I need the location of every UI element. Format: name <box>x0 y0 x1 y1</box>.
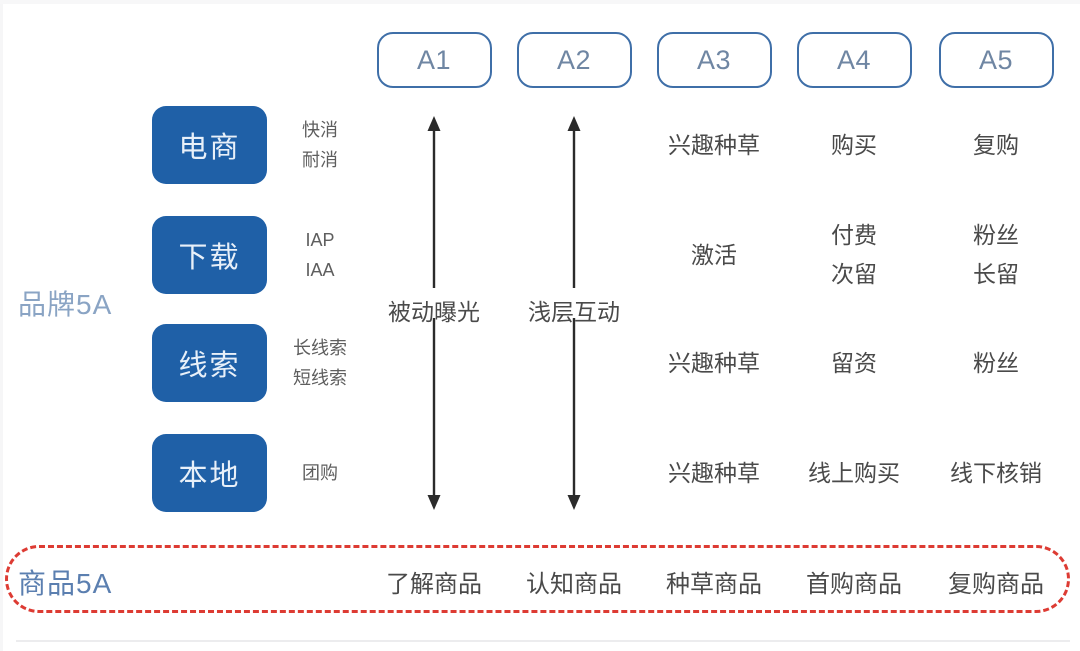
axis-caption-2: 浅层互动 <box>499 293 649 327</box>
category-subtype-line: 快消 <box>280 115 360 145</box>
category-subtypes-4: 团购 <box>280 458 360 488</box>
matrix-cell-r1-a4: 购买 <box>779 126 929 165</box>
a2-up-arrow <box>561 116 587 288</box>
category-subtype-line: 短线索 <box>280 363 360 393</box>
brand-5a-label: 品牌5A <box>18 283 112 323</box>
matrix-cell-line: 兴趣种草 <box>639 126 789 165</box>
category-subtypes-3: 长线索短线索 <box>280 333 360 393</box>
matrix-cell-line: 粉丝 <box>921 344 1071 383</box>
category-subtype-line: 耐消 <box>280 145 360 175</box>
category-subtype-line: 长线索 <box>280 333 360 363</box>
stage-pill-a2[interactable]: A2 <box>517 32 632 88</box>
category-subtype-line: 团购 <box>280 458 360 488</box>
matrix-cell-r4-a4: 线上购买 <box>779 454 929 493</box>
matrix-cell-r4-a5: 线下核销 <box>921 454 1071 493</box>
matrix-cell-line: 线上购买 <box>779 454 929 493</box>
a2-down-arrow <box>561 318 587 510</box>
category-subtype-line: IAA <box>280 255 360 285</box>
matrix-cell-line: 留资 <box>779 344 929 383</box>
matrix-cell-r1-a3: 兴趣种草 <box>639 126 789 165</box>
category-chip-label: 线索 <box>178 342 240 384</box>
stage-pill-a1[interactable]: A1 <box>377 32 492 88</box>
product-5a-cell-4: 首购商品 <box>779 564 929 599</box>
matrix-cell-line: 线下核销 <box>921 454 1071 493</box>
matrix-cell-line: 复购 <box>921 126 1071 165</box>
product-5a-cell-3: 种草商品 <box>639 564 789 599</box>
matrix-cell-line: 购买 <box>779 126 929 165</box>
matrix-cell-line: 付费 <box>779 216 929 255</box>
stage-pill-label: A5 <box>979 45 1013 76</box>
category-chip-2[interactable]: 下载 <box>152 216 267 294</box>
matrix-cell-line: 兴趣种草 <box>639 344 789 383</box>
matrix-cell-r1-a5: 复购 <box>921 126 1071 165</box>
category-chip-3[interactable]: 线索 <box>152 324 267 402</box>
category-chip-4[interactable]: 本地 <box>152 434 267 512</box>
category-subtypes-2: IAPIAA <box>280 225 360 285</box>
matrix-cell-r3-a3: 兴趣种草 <box>639 344 789 383</box>
matrix-cell-line: 粉丝 <box>921 216 1071 255</box>
matrix-cell-r3-a4: 留资 <box>779 344 929 383</box>
category-chip-1[interactable]: 电商 <box>152 106 267 184</box>
stage-pill-a4[interactable]: A4 <box>797 32 912 88</box>
matrix-cell-r2-a5: 粉丝长留 <box>921 216 1071 294</box>
stage-pill-label: A4 <box>837 45 871 76</box>
product-5a-label: 商品5A <box>18 562 112 602</box>
a1-down-arrow <box>421 318 447 510</box>
category-subtypes-1: 快消耐消 <box>280 115 360 175</box>
axis-caption-1: 被动曝光 <box>359 293 509 327</box>
diagram-canvas: A1A2A3A4A5 品牌5A 电商快消耐消下载IAPIAA线索长线索短线索本地… <box>0 0 1080 651</box>
stage-pill-label: A2 <box>557 45 591 76</box>
matrix-cell-r2-a4: 付费次留 <box>779 216 929 294</box>
category-subtype-line: IAP <box>280 225 360 255</box>
matrix-cell-r2-a3: 激活 <box>639 236 789 275</box>
matrix-cell-line: 激活 <box>639 236 789 275</box>
matrix-cell-line: 次留 <box>779 255 929 294</box>
matrix-cell-r4-a3: 兴趣种草 <box>639 454 789 493</box>
matrix-cell-line: 长留 <box>921 255 1071 294</box>
stage-pill-a3[interactable]: A3 <box>657 32 772 88</box>
category-chip-label: 电商 <box>178 124 240 166</box>
stage-pill-label: A1 <box>417 45 451 76</box>
category-chip-label: 本地 <box>178 452 240 494</box>
product-5a-cell-2: 认知商品 <box>499 564 649 599</box>
matrix-cell-r3-a5: 粉丝 <box>921 344 1071 383</box>
product-5a-cell-1: 了解商品 <box>359 564 509 599</box>
category-chip-label: 下载 <box>178 234 240 276</box>
a1-up-arrow <box>421 116 447 288</box>
product-5a-cell-5: 复购商品 <box>921 564 1071 599</box>
stage-pill-label: A3 <box>697 45 731 76</box>
matrix-cell-line: 兴趣种草 <box>639 454 789 493</box>
stage-pill-a5[interactable]: A5 <box>939 32 1054 88</box>
bottom-divider <box>16 640 1070 642</box>
